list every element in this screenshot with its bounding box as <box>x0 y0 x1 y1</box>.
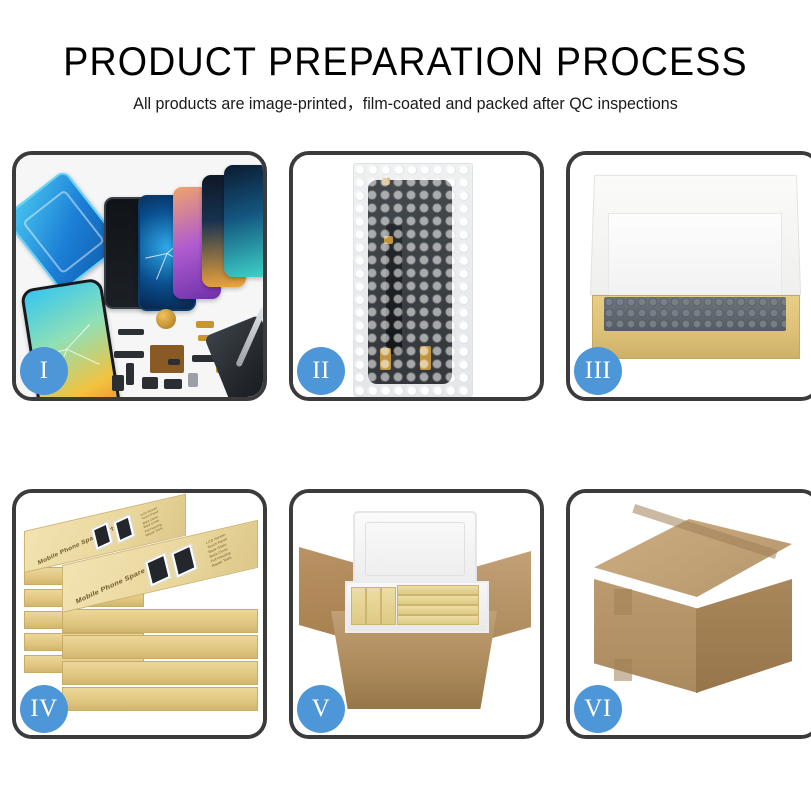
process-step-6[interactable]: VI <box>566 489 811 739</box>
foam-sheet <box>608 213 782 301</box>
stacked-box-front-2 <box>62 635 258 659</box>
teal-phone <box>224 165 263 277</box>
inner-boxes <box>351 585 479 625</box>
process-step-3[interactable]: III <box>566 151 811 401</box>
step-badge-4: IV <box>20 685 68 733</box>
process-step-2[interactable]: II <box>289 151 544 401</box>
process-step-1[interactable]: I <box>12 151 267 401</box>
box-checklist-front: LCD Screen Touch Panel Back Glass Back C… <box>206 532 232 569</box>
carton-tape-lower <box>614 659 632 681</box>
stacked-box-front-4 <box>62 687 258 711</box>
bubble-wrapped-contents <box>604 297 786 331</box>
step-badge-2: II <box>297 347 345 395</box>
carton-side-face <box>696 579 792 693</box>
bubble-wrap-bag <box>353 163 473 397</box>
step-badge-6: VI <box>574 685 622 733</box>
gold-connector-top <box>382 178 390 185</box>
process-step-5[interactable]: V <box>289 489 544 739</box>
foam-lid <box>353 511 477 587</box>
step-badge-3: III <box>574 347 622 395</box>
process-step-grid: I II III <box>12 151 802 739</box>
stacked-box-front-1 <box>62 609 258 633</box>
gold-connector-mid <box>384 236 393 244</box>
page-subtitle: All products are image-printed，film-coat… <box>12 96 799 113</box>
gold-connector-lower-left <box>380 348 391 370</box>
carton-tape-upper <box>614 589 632 615</box>
step-badge-1: I <box>20 347 68 395</box>
box-checklist-rear: LCD Screen Touch Panel Back Glass Back C… <box>140 506 163 538</box>
page-title: PRODUCT PREPARATION PROCESS <box>24 42 786 82</box>
carton-front-face <box>594 579 698 693</box>
page-header: PRODUCT PREPARATION PROCESS All products… <box>0 0 811 113</box>
gold-connector-lower-right <box>420 346 431 370</box>
process-step-4[interactable]: Mobile Phone Spare Parts LCD Screen Touc… <box>12 489 267 739</box>
camera-lens-part <box>156 309 176 329</box>
stacked-box-front-3 <box>62 661 258 685</box>
step-badge-5: V <box>297 685 345 733</box>
